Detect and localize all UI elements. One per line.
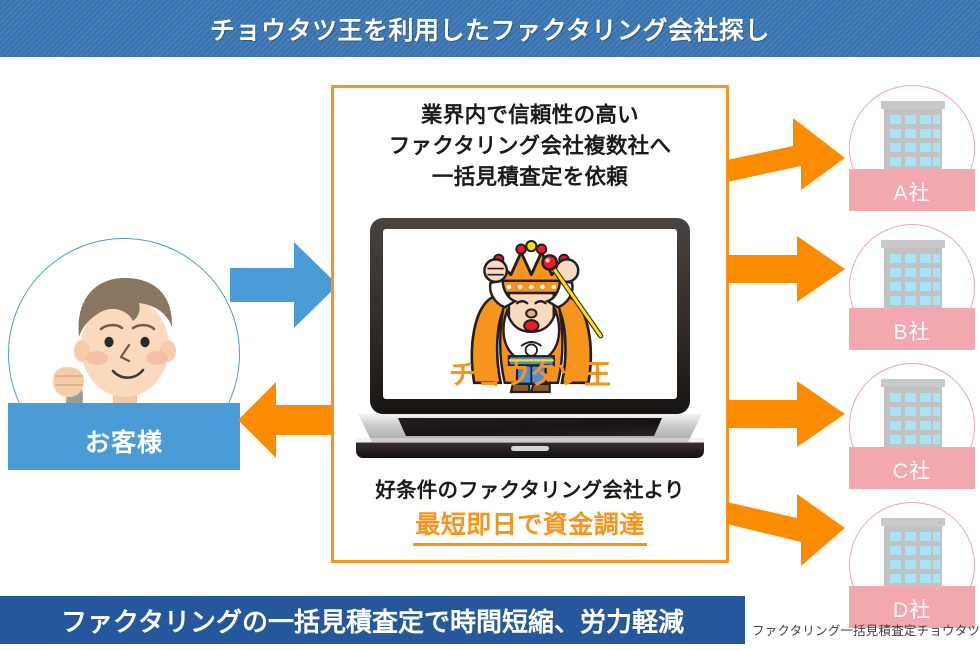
laptop-illustration: チョウタツ王 (356, 218, 704, 458)
footer-title: ファクタリングの一括見積査定で時間短縮、労力軽減 (61, 602, 684, 639)
footer-banner: ファクタリングの一括見積査定で時間短縮、労力軽減 (0, 596, 745, 644)
panel-footing-highlight: 最短即日で資金調達 (413, 509, 647, 546)
company-label-band-b: B社 (849, 308, 975, 350)
arrow-right-blue-icon (230, 242, 338, 328)
arrow-quote-b (727, 236, 845, 307)
arrow-request (230, 242, 338, 333)
arrow-quote-c (727, 381, 845, 452)
company-label-band-a: A社 (849, 169, 975, 211)
arrow-right-up-orange-icon (727, 112, 845, 190)
arrow-quote-d (727, 494, 845, 577)
company-node-c: C社 (849, 363, 975, 489)
customer-label-band: お客様 (8, 403, 240, 470)
panel-footing-line-1: 好条件のファクタリング会社より (334, 477, 726, 505)
laptop-screen-label: チョウタツ王 (449, 360, 611, 390)
infographic-canvas: チョウタツ王を利用したファクタリング会社探し (0, 0, 980, 650)
customer-label: お客様 (85, 423, 163, 459)
customer-node: お客様 (8, 238, 240, 470)
company-label-band-c: C社 (849, 447, 975, 489)
page-title: チョウタツ王を利用したファクタリング会社探し (210, 11, 770, 47)
panel-heading-line-2: ファクタリング会社複数社へ (334, 131, 726, 162)
arrow-response (238, 382, 338, 463)
company-node-d: D社 (849, 502, 975, 628)
company-label-c: C社 (893, 455, 931, 485)
company-node-b: B社 (849, 224, 975, 350)
laptop-icon: チョウタツ王 (356, 218, 704, 458)
company-node-a: A社 (849, 85, 975, 211)
arrow-right-orange-icon (727, 236, 845, 302)
panel-heading-line-3: 一括見積査定を依頼 (334, 162, 726, 193)
panel-heading-line-1: 業界内で信頼性の高い (334, 100, 726, 131)
header-banner: チョウタツ王を利用したファクタリング会社探し (0, 0, 980, 57)
company-label-b: B社 (893, 316, 930, 346)
arrow-right-down-orange-icon (727, 494, 845, 572)
arrow-quote-a (727, 112, 845, 195)
arrow-left-orange-icon (238, 382, 338, 458)
arrow-right-orange-icon (727, 381, 845, 447)
footer-caption: ファクタリング一括見積査定チョウタツ王 (752, 620, 980, 639)
panel-heading: 業界内で信頼性の高い ファクタリング会社複数社へ 一括見積査定を依頼 (334, 100, 726, 193)
panel-footing: 好条件のファクタリング会社より 最短即日で資金調達 (334, 477, 726, 546)
company-label-a: A社 (893, 177, 930, 207)
